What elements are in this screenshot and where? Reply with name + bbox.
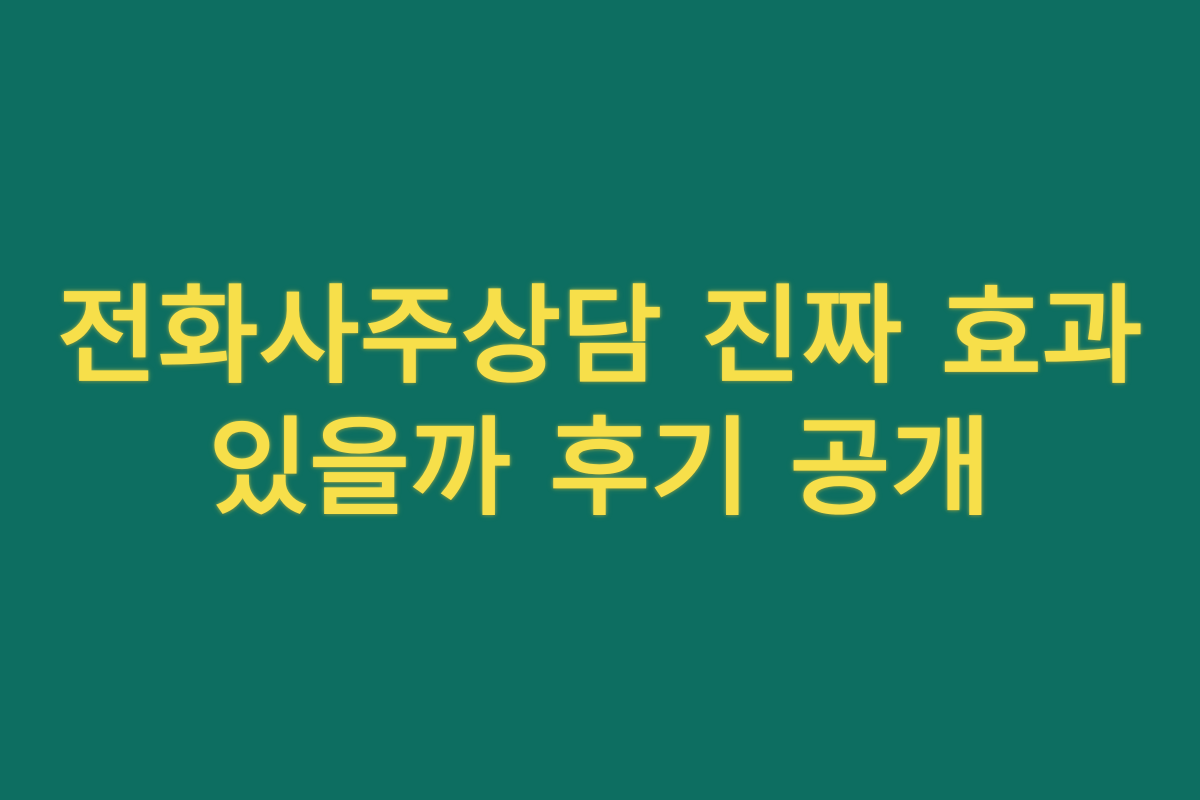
headline-line-2: 있을까 후기 공개 — [0, 403, 1200, 535]
headline-block: 전화사주상담 진짜 효과 있을까 후기 공개 — [0, 265, 1200, 535]
banner-canvas: 전화사주상담 진짜 효과 있을까 후기 공개 — [0, 0, 1200, 800]
headline-line-1: 전화사주상담 진짜 효과 — [0, 271, 1200, 403]
